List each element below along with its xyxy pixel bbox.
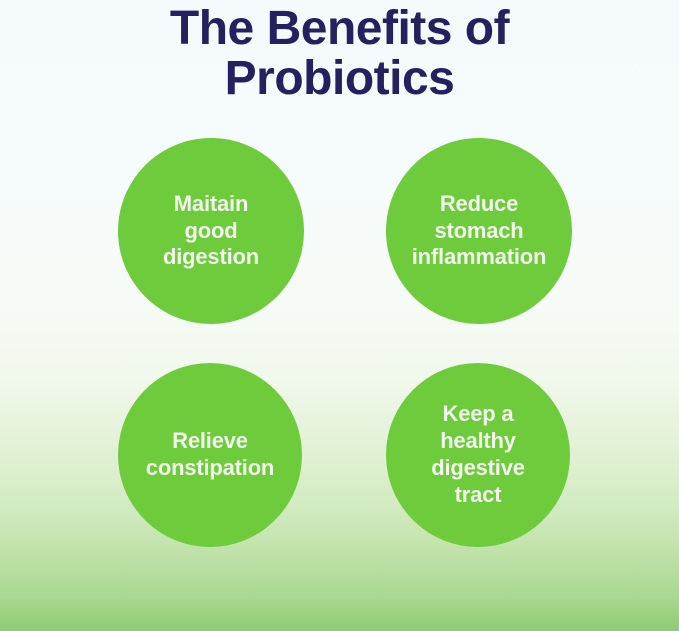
page-title: The Benefits of Probiotics [0, 4, 679, 105]
benefit-circle-keep-a-healthy-digestive-tract: Keep a healthy digestive tract [386, 363, 570, 547]
benefit-circle-maintain-good-digestion: Maitain good digestion [118, 138, 304, 324]
benefit-label: Reduce stomach inflammation [386, 191, 572, 271]
infographic-canvas: The Benefits of Probiotics Maitain good … [0, 0, 679, 631]
benefit-circle-reduce-stomach-inflammation: Reduce stomach inflammation [386, 138, 572, 324]
benefit-label: Relieve constipation [118, 428, 302, 482]
page-title-line-1: The Benefits of [0, 4, 679, 54]
benefit-label: Maitain good digestion [118, 191, 304, 271]
page-title-line-2: Probiotics [0, 54, 679, 104]
benefit-label: Keep a healthy digestive tract [386, 401, 570, 508]
benefit-circle-relieve-constipation: Relieve constipation [118, 363, 302, 547]
